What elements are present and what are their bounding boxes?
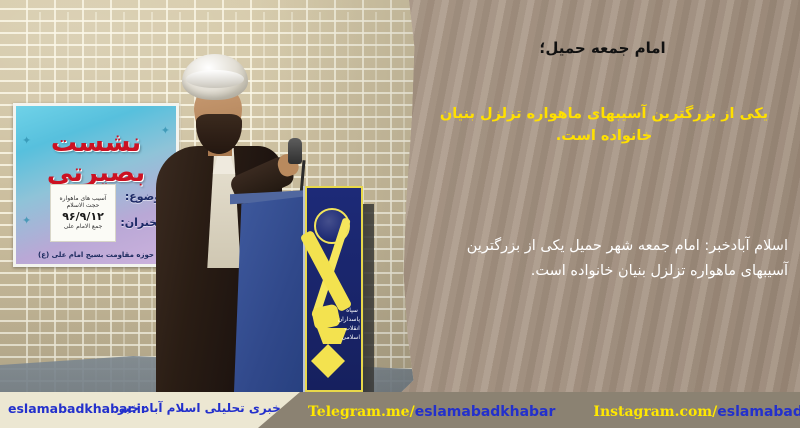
emblem-caption: سپاه پاسداران انقلاب اسلامی bbox=[344, 306, 360, 342]
emblem-fist-icon bbox=[311, 304, 341, 331]
article-body: اسلام آبادخبر: امام جمعه شهر حمیل یکی از… bbox=[430, 234, 788, 285]
news-graphic: ✦ ✦ ✦ ✦ نشست بصیرتی موضوع: سخنران: آسیب … bbox=[0, 0, 800, 428]
podium-emblem-panel: سپاه پاسداران انقلاب اسلامی bbox=[303, 186, 363, 392]
footer-tagline: خبری تحلیلی اسلام آباد خبر bbox=[118, 401, 281, 415]
footer-instagram-link[interactable]: Instagram.com/eslamabadkhabar.ir bbox=[593, 401, 800, 420]
banner-info-card: آسیب های ماهواره حجت الاسلام ۹۶/۹/۱۲ جمع… bbox=[50, 184, 116, 242]
article-headline: امام جمعه حمیل؛ bbox=[420, 38, 785, 59]
article-subheadline: یکی از بزرگترین آسیبهای ماهواره تزلزل بن… bbox=[416, 104, 792, 148]
news-photo: ✦ ✦ ✦ ✦ نشست بصیرتی موضوع: سخنران: آسیب … bbox=[0, 0, 416, 392]
microphone-icon bbox=[288, 138, 302, 164]
footer-bar: eslamabadkhabar.ir خبری تحلیلی اسلام آبا… bbox=[0, 392, 800, 428]
speaker-turban bbox=[182, 54, 248, 100]
banner-ornament-bottom-left: ✦ bbox=[22, 214, 31, 227]
banner-card-venue: جمع الامام علی bbox=[64, 224, 103, 231]
telegram-handle: eslamabadkhabar bbox=[415, 404, 556, 420]
emblem-leaf-icon bbox=[311, 344, 345, 378]
footer-telegram-link[interactable]: Telegram.me/eslamabadkhabar bbox=[308, 401, 555, 420]
banner-card-speaker: حجت الاسلام bbox=[67, 203, 100, 210]
footer-social-links: Telegram.me/eslamabadkhabar Instagram.co… bbox=[300, 392, 800, 428]
banner-card-topic: آسیب های ماهواره bbox=[60, 196, 107, 203]
banner-card-date: ۹۶/۹/۱۲ bbox=[62, 211, 104, 223]
instagram-handle: eslamabadkhabar.ir bbox=[717, 404, 800, 420]
podium-body bbox=[234, 196, 308, 392]
telegram-prefix: Telegram.me/ bbox=[308, 404, 415, 420]
instagram-prefix: Instagram.com/ bbox=[593, 404, 717, 420]
